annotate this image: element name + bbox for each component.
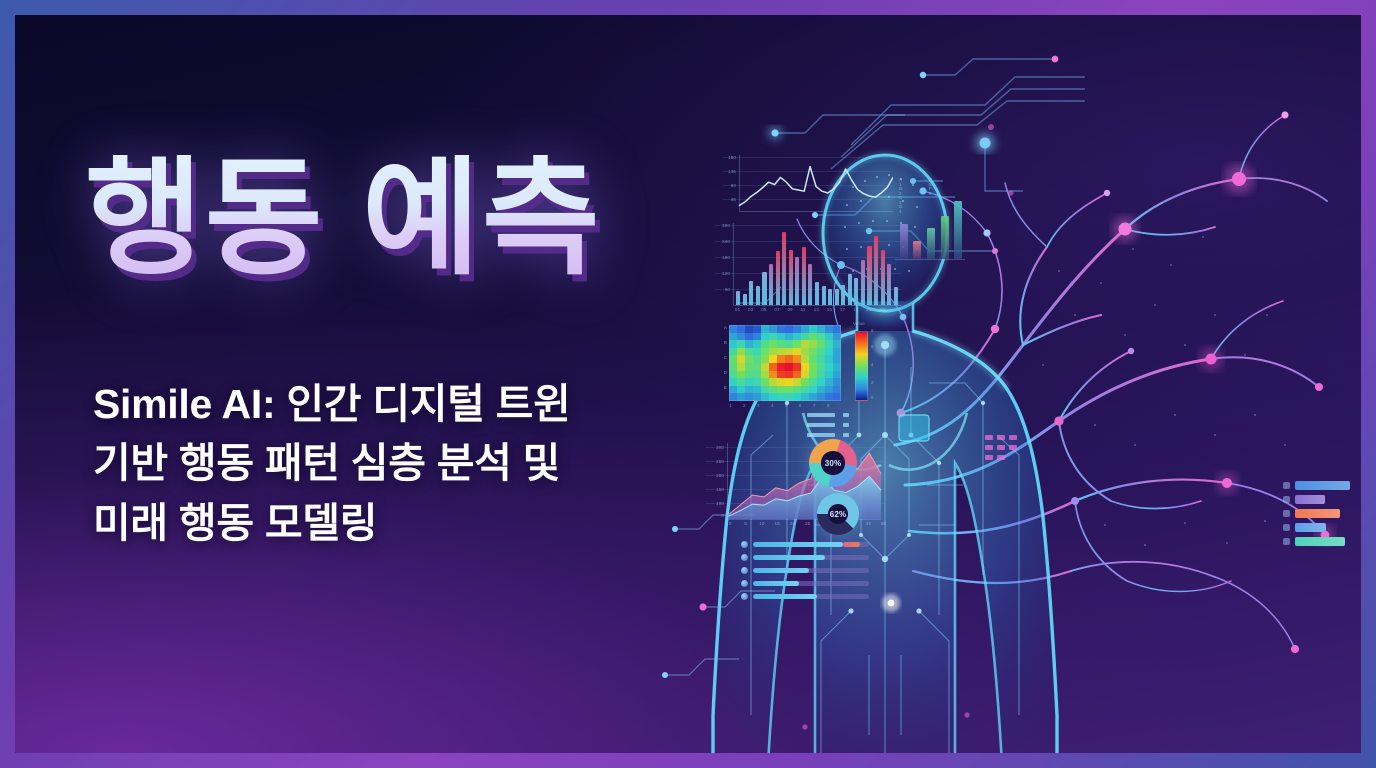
area-chart-xtick: 50 xyxy=(881,521,886,526)
bar-chart-bar xyxy=(749,281,753,305)
bar-chart-xtick: 09 xyxy=(788,307,793,312)
ranked-row-icon xyxy=(1283,524,1290,531)
bar-chart-bar xyxy=(815,282,819,306)
bar-chart-bar xyxy=(848,274,852,305)
area-chart-xtick: 10 xyxy=(759,521,764,526)
chart-heatmap-correlation: ABCDE 12345678 xyxy=(719,323,845,409)
progress-fill xyxy=(753,555,825,560)
panel-edge-marks xyxy=(707,515,713,535)
bar-chart-xticks: 010305070911131517192123 xyxy=(735,307,899,315)
bar-chart-bar xyxy=(887,264,891,305)
progress-row-icon xyxy=(741,554,748,561)
ranked-bar-list xyxy=(1283,481,1361,555)
progress-fill xyxy=(753,594,817,599)
subtitle-line-2: 기반 행동 패턴 심층 분석 및 xyxy=(93,434,693,493)
ranked-row-icon xyxy=(1283,482,1290,489)
heatmap-xtick: 5 xyxy=(785,403,788,408)
heatmap-xtick: 2 xyxy=(743,403,746,408)
bar-chart-bar xyxy=(782,232,786,305)
ranked-bar xyxy=(1295,481,1350,490)
area-chart-xtick: 20 xyxy=(790,521,795,526)
progress-row xyxy=(741,554,869,561)
progress-row xyxy=(741,541,869,548)
banner-canvas: 180 135 90 45 300 240 180 120 xyxy=(15,15,1361,753)
ranked-bar xyxy=(1295,537,1345,546)
heatmap-ytick: E xyxy=(719,385,727,390)
bar-chart-bar xyxy=(808,264,812,305)
bar-chart-bar xyxy=(894,287,898,305)
bar-chart-bar xyxy=(743,294,747,305)
ranked-row xyxy=(1283,495,1361,504)
small-bar xyxy=(941,216,949,259)
bar-chart-bar xyxy=(802,247,806,305)
page-title: 행동 예측 xyxy=(85,155,745,283)
progress-fill xyxy=(753,581,799,586)
ranked-bar xyxy=(1295,509,1340,518)
progress-row xyxy=(741,580,869,587)
progress-track xyxy=(753,555,869,560)
heatmap-xtick: 4 xyxy=(771,403,774,408)
subtitle-line-1: Simile AI: 인간 디지털 트윈 xyxy=(93,375,693,434)
area-chart-xtick: 0 xyxy=(729,521,732,526)
bar-chart-xtick: 13 xyxy=(814,307,819,312)
progress-fill xyxy=(753,542,843,547)
bar-chart-bar xyxy=(854,278,858,305)
small-bar xyxy=(913,241,921,259)
heatmap-xtick: 6 xyxy=(799,403,802,408)
ranked-bar xyxy=(1295,523,1326,532)
ranked-row xyxy=(1283,523,1361,532)
bar-chart-bars xyxy=(735,223,899,305)
heatmap-yticks: ABCDE xyxy=(719,325,728,401)
bar-chart-xtick: 05 xyxy=(761,307,766,312)
bar-chart-bar xyxy=(776,251,780,305)
heatmap-ytick: D xyxy=(719,370,727,375)
bar-chart-bar xyxy=(736,291,740,305)
donut-chart-2: 62% xyxy=(817,493,859,535)
small-bar xyxy=(927,228,935,259)
bar-chart-bar xyxy=(881,250,885,305)
ranked-row xyxy=(1283,537,1361,546)
heatmap-xtick: 7 xyxy=(813,403,816,408)
ranked-row-icon xyxy=(1283,496,1290,503)
donut-1-label: 30% xyxy=(809,439,857,487)
heatmap-xtick: 3 xyxy=(757,403,760,408)
progress-row xyxy=(741,593,869,600)
small-bar xyxy=(900,224,908,259)
heatmap-xtick: 1 xyxy=(729,403,732,408)
area-chart-xtick: 5 xyxy=(744,521,747,526)
donut-chart-1: 30% xyxy=(809,439,857,487)
ranked-row xyxy=(1283,481,1361,490)
bar-chart-bar xyxy=(835,289,839,305)
subtitle-line-3: 미래 행동 모델링 xyxy=(93,494,693,553)
heatmap-xticks: 12345678 xyxy=(729,403,841,410)
progress-row-icon xyxy=(741,580,748,587)
progress-track xyxy=(753,542,869,547)
bar-chart-bar xyxy=(828,289,832,305)
bar-chart-bar xyxy=(762,272,766,305)
bar-chart-bar xyxy=(841,285,845,305)
page-subtitle: Simile AI: 인간 디지털 트윈 기반 행동 패턴 심층 분석 및 미래… xyxy=(93,375,693,553)
progress-row xyxy=(741,567,869,574)
ranked-row-icon xyxy=(1283,510,1290,517)
banner-frame: 180 135 90 45 300 240 180 120 xyxy=(0,0,1376,768)
progress-track xyxy=(753,581,869,586)
ranked-row xyxy=(1283,509,1361,518)
colorbar-ticks: 8 6 4 2 0 xyxy=(871,331,885,401)
ranked-row-icon xyxy=(1283,538,1290,545)
progress-fill xyxy=(753,568,809,573)
progress-accent xyxy=(843,542,859,547)
colorbar-label: Value xyxy=(853,321,865,326)
progress-row-icon xyxy=(741,593,748,600)
bar-chart-xtick: 07 xyxy=(774,307,779,312)
donut-2-label: 62% xyxy=(817,493,859,535)
bar-chart-xtick: 19 xyxy=(853,307,858,312)
area-chart-xtick: 45 xyxy=(866,521,871,526)
small-bar-group xyxy=(897,193,965,259)
bar-chart-bar xyxy=(874,236,878,305)
bar-chart-bar xyxy=(822,286,826,305)
heatmap-ytick: A xyxy=(719,325,727,330)
bar-chart-xtick: 03 xyxy=(748,307,753,312)
heatmap-ytick: B xyxy=(719,340,727,345)
progress-track xyxy=(753,568,869,573)
heatmap-colorbar: Value 8 6 4 2 0 xyxy=(853,321,887,409)
bar-chart-bar xyxy=(756,286,760,305)
area-chart-xtick: 25 xyxy=(805,521,810,526)
ranked-bar xyxy=(1295,495,1325,504)
bar-chart-xtick: 17 xyxy=(840,307,845,312)
area-chart-xtick: 15 xyxy=(775,521,780,526)
progress-list xyxy=(741,541,869,611)
progress-row-icon xyxy=(741,541,748,548)
bar-ytick-4: 60 xyxy=(711,287,730,292)
bar-chart-xtick: 11 xyxy=(801,307,806,312)
bar-chart-bar xyxy=(867,246,871,305)
bar-chart-bar xyxy=(769,264,773,305)
colorbar-gradient xyxy=(855,331,868,401)
artwork-region: 180 135 90 45 300 240 180 120 xyxy=(655,15,1361,753)
bar-chart-bar xyxy=(789,250,793,305)
bar-chart-xtick: 23 xyxy=(879,307,884,312)
bar-chart-bar xyxy=(795,257,799,305)
bar-chart-xtick: 01 xyxy=(735,307,740,312)
chart-line-behavior: 180 135 90 45 xyxy=(723,155,893,213)
bar-chart-xtick: 21 xyxy=(866,307,871,312)
heatmap-ytick: C xyxy=(719,355,727,360)
progress-row-icon xyxy=(741,567,748,574)
progress-track xyxy=(753,594,869,599)
heatmap-xtick: 8 xyxy=(827,403,830,408)
line-chart-plot xyxy=(723,155,893,213)
bar-chart-bar xyxy=(861,260,865,305)
bar-chart-xtick: 15 xyxy=(827,307,832,312)
small-bar xyxy=(954,201,962,259)
chart-small-bars: A 1 B 2 C 3 D 4 E 5 F 6 xyxy=(893,183,969,269)
